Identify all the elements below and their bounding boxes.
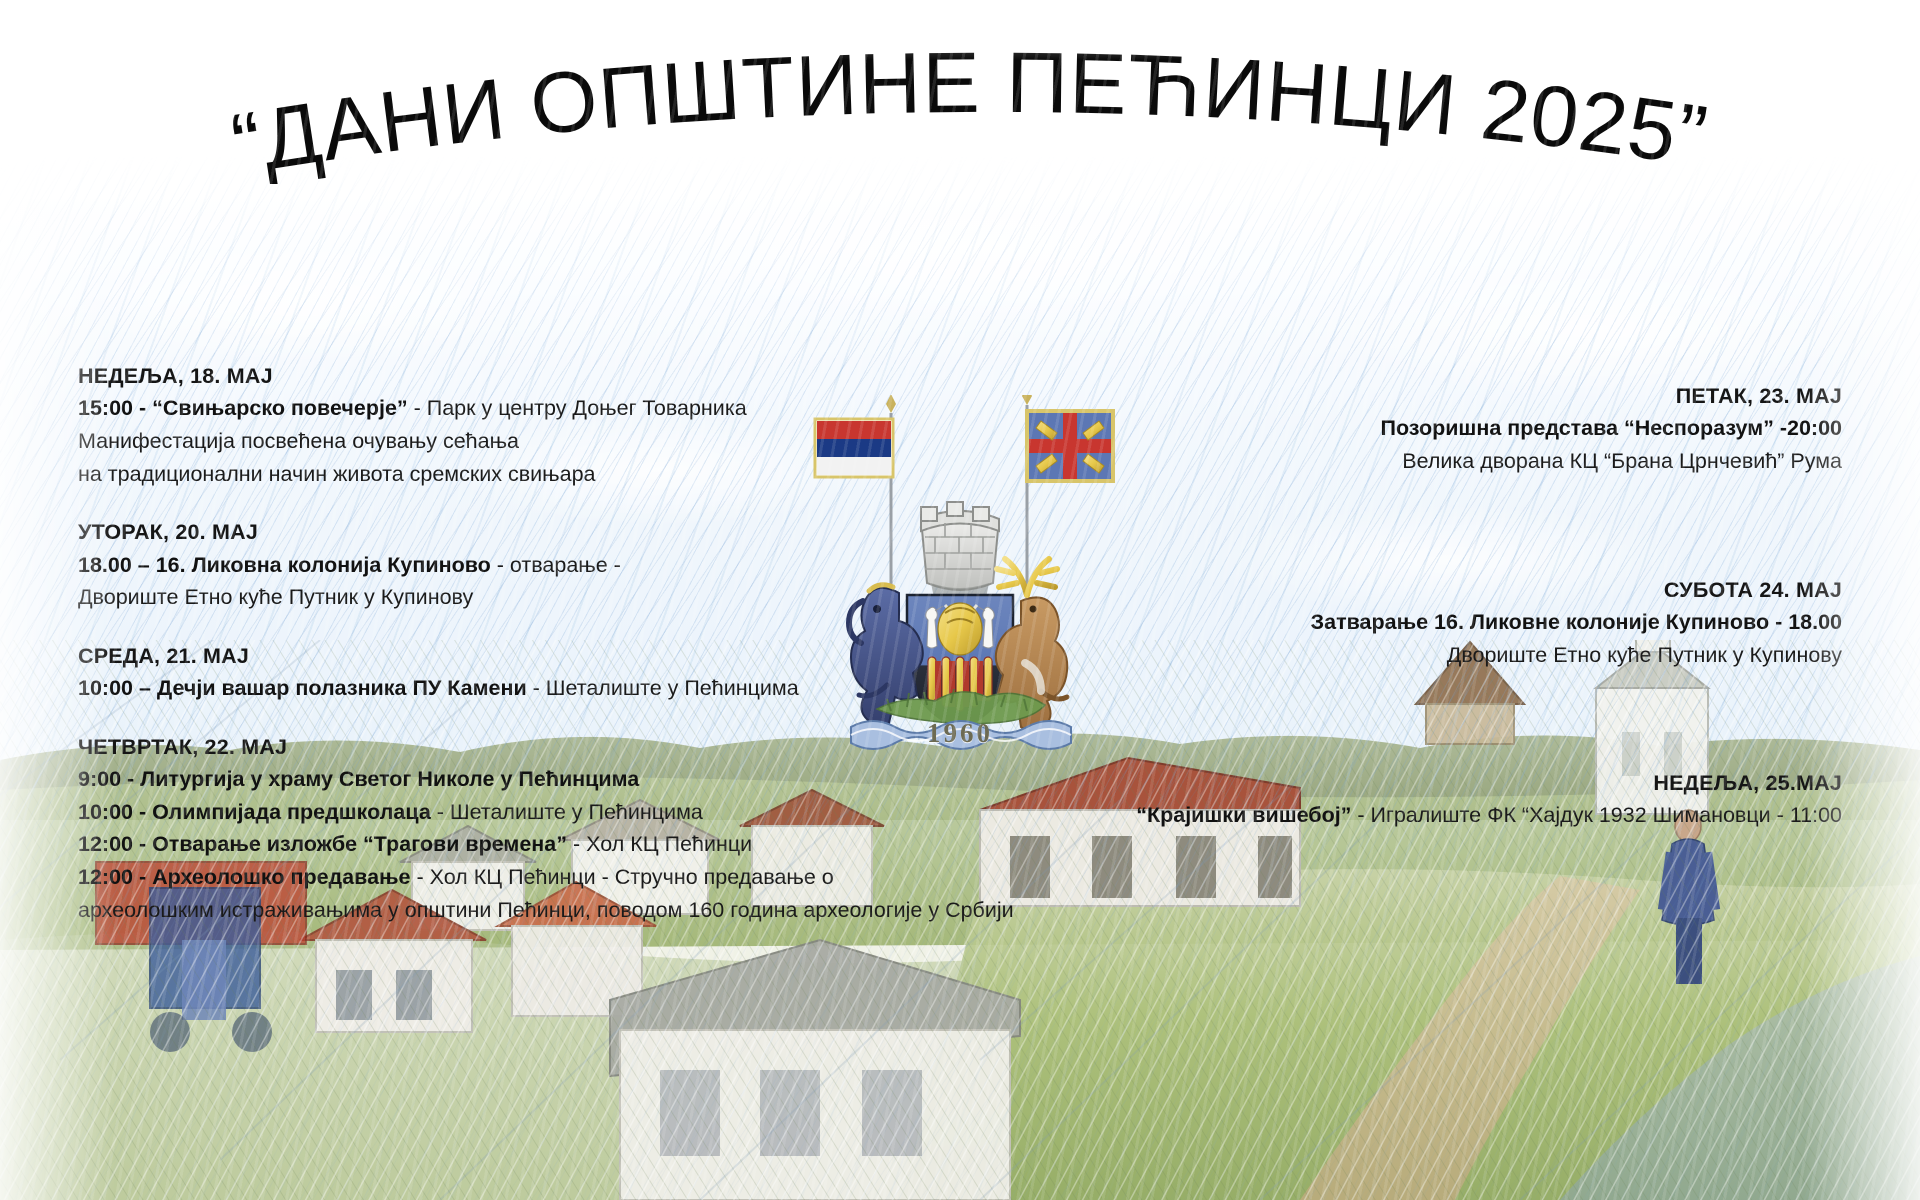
event-line-rest: Двориште Етно куће Путник у Купинову	[78, 585, 473, 609]
event-line-rest: Двориште Етно куће Путник у Купинову	[1447, 643, 1842, 667]
coat-of-arms-pecinci: 1960	[795, 395, 1125, 755]
event-line-rest: Велика дворана КЦ “Брана Црнчевић” Рума	[1402, 449, 1842, 473]
event-line: “Крајишки вишебој” - Игралиште ФК “Хајду…	[1042, 799, 1842, 832]
event-block: ПЕТАК, 23. МАЈПозоришна представа “Неспо…	[1042, 380, 1842, 478]
right-schedule-column: ПЕТАК, 23. МАЈПозоришна представа “Неспо…	[1042, 380, 1842, 928]
event-line-rest: - Шеталиште у Пећинцима	[527, 676, 799, 700]
event-line: 12:00 - Археолошко предавање - Хол КЦ Пе…	[78, 861, 1098, 894]
event-block: ЧЕТВРТАК, 22. МАЈ9:00 - Литургија у храм…	[78, 731, 1098, 927]
event-day-heading: СУБОТА 24. МАЈ	[1042, 574, 1842, 606]
event-line-rest: археолошким истраживањима у општини Пећи…	[78, 898, 1014, 922]
event-line-rest: - Хол КЦ Пећинци	[567, 832, 752, 856]
event-line-bold: Затварање 16. Ликовне колоније Купиново …	[1311, 610, 1842, 634]
event-day-heading: ПЕТАК, 23. МАЈ	[1042, 380, 1842, 412]
castle-tower-crest	[921, 502, 999, 608]
event-line-bold: 12:00 - Отварање изложбе “Трагови времен…	[78, 832, 567, 856]
event-line-bold: 10:00 – Дечји вашар полазника ПУ Камени	[78, 676, 527, 700]
event-line-bold: Позоришна представа “Неспоразум” -20:00	[1380, 416, 1842, 440]
event-line: 10:00 - Олимпијада предшколаца - Шеталиш…	[78, 796, 1098, 829]
serbian-tricolor-flag	[815, 419, 893, 477]
event-line-bold: 18.00 – 16. Ликовна колонија Купиново	[78, 553, 491, 577]
poster-title-text: “ДАНИ ОПШТИНЕ ПЕЋИНЦИ 2025”	[225, 35, 1713, 184]
finial-left	[886, 395, 896, 413]
event-line-bold: 15:00 - “Свињарско повечерје”	[78, 396, 408, 420]
event-line-rest: - Игралиште ФК “Хајдук 1932 Шимановци - …	[1351, 803, 1842, 827]
event-line: Затварање 16. Ликовне колоније Купиново …	[1042, 606, 1842, 639]
event-line: Велика дворана КЦ “Брана Црнчевић” Рума	[1042, 445, 1842, 478]
event-line: 9:00 - Литургија у храму Светог Николе у…	[78, 763, 1098, 796]
wheat-sheaf	[938, 603, 982, 655]
event-line-bold: “Крајишки вишебој”	[1136, 803, 1351, 827]
poster-root: “ДАНИ ОПШТИНЕ ПЕЋИНЦИ 2025”	[0, 0, 1920, 1200]
event-line: 12:00 - Отварање изложбе “Трагови времен…	[78, 828, 1098, 861]
event-line: археолошким истраживањима у општини Пећи…	[78, 894, 1098, 927]
event-line-rest: на традиционални начин живота сремских с…	[78, 462, 596, 486]
poster-title-svg: “ДАНИ ОПШТИНЕ ПЕЋИНЦИ 2025”	[0, 34, 1920, 184]
event-line-rest: - Парк у центру Доњег Товарника	[408, 396, 747, 420]
poster-title-container: “ДАНИ ОПШТИНЕ ПЕЋИНЦИ 2025”	[0, 34, 1920, 184]
event-line: Двориште Етно куће Путник у Купинову	[1042, 639, 1842, 672]
event-block: НЕДЕЉА, 25.МАЈ“Крајишки вишебој” - Играл…	[1042, 767, 1842, 832]
event-line-bold: 12:00 - Археолошко предавање	[78, 865, 410, 889]
event-day-heading: НЕДЕЉА, 18. МАЈ	[78, 360, 1098, 392]
event-line-rest: - Хол КЦ Пећинци - Стручно предавање о	[410, 865, 833, 889]
event-line-rest: - отварање -	[491, 553, 621, 577]
event-block: СУБОТА 24. МАЈЗатварање 16. Ликовне коло…	[1042, 574, 1842, 672]
event-day-heading: НЕДЕЉА, 25.МАЈ	[1042, 767, 1842, 799]
finial-right	[1022, 395, 1032, 405]
pecinci-municipal-flag	[1027, 411, 1113, 481]
event-line-bold: 10:00 - Олимпијада предшколаца	[78, 800, 431, 824]
event-line: Позоришна представа “Неспоразум” -20:00	[1042, 412, 1842, 445]
emblem-year-label: 1960	[795, 718, 1125, 749]
event-line-rest: Манифестација посвећена очувању сећања	[78, 429, 519, 453]
event-line-bold: 9:00 - Литургија у храму Светог Николе у…	[78, 767, 639, 791]
event-line-rest: - Шеталиште у Пећинцима	[431, 800, 703, 824]
